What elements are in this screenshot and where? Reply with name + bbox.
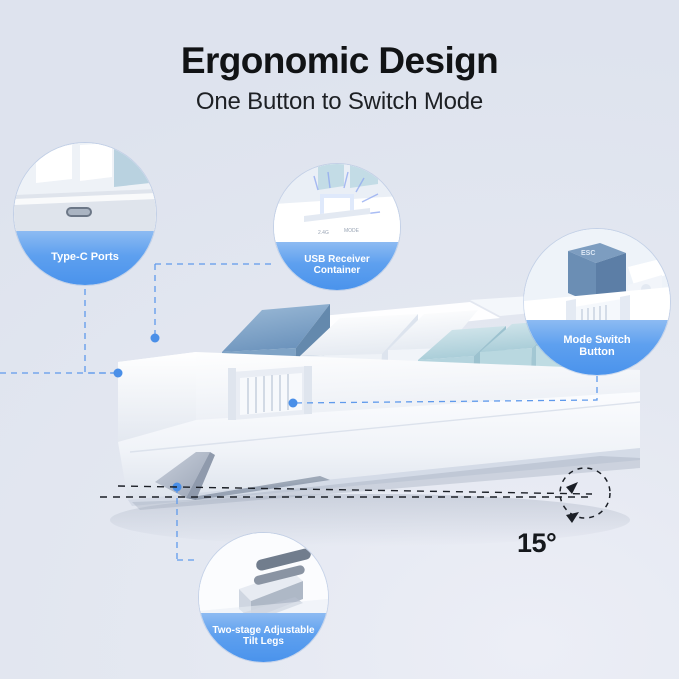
- dot-type-c: [114, 369, 123, 378]
- callout-banner-mode-switch: Mode Switch Button: [524, 320, 670, 375]
- callout-label-line2: Button: [563, 346, 630, 358]
- callout-mode-switch-button[interactable]: ESC Mode Switch Button: [524, 229, 670, 375]
- tilt-angle-label: 15°: [517, 528, 556, 559]
- callout-usb-receiver-container[interactable]: 2.4G MODE USB Receiver Container: [274, 164, 400, 290]
- callout-banner-tilt-legs: Two-stage Adjustable Tilt Legs: [199, 613, 328, 662]
- angle-arrows: [566, 482, 579, 523]
- callout-banner-usb-receiver: USB Receiver Container: [274, 242, 400, 290]
- connector-dots: [114, 334, 298, 492]
- callout-label-line1: Two-stage Adjustable: [212, 625, 314, 636]
- callout-tilt-legs[interactable]: Two-stage Adjustable Tilt Legs: [199, 533, 328, 662]
- infographic-canvas: Ergonomic Design One Button to Switch Mo…: [0, 0, 679, 679]
- callout-label-line1: USB Receiver: [304, 254, 370, 265]
- dot-mode-switch: [289, 399, 298, 408]
- callout-label-line2: Container: [304, 265, 370, 276]
- svg-text:MODE: MODE: [344, 228, 360, 234]
- callout-label-line1: Mode Switch: [563, 334, 630, 346]
- callout-type-c-ports[interactable]: Type-C Ports: [14, 143, 156, 285]
- dot-usb-receiver: [151, 334, 160, 343]
- callout-label-line2: Tilt Legs: [212, 636, 314, 647]
- callout-label-line1: Type-C Ports: [51, 251, 119, 263]
- mode-key-legend: ESC: [581, 250, 595, 257]
- angle-arc: [560, 468, 610, 518]
- callout-banner-type-c: Type-C Ports: [14, 231, 156, 285]
- svg-text:2.4G: 2.4G: [318, 230, 329, 236]
